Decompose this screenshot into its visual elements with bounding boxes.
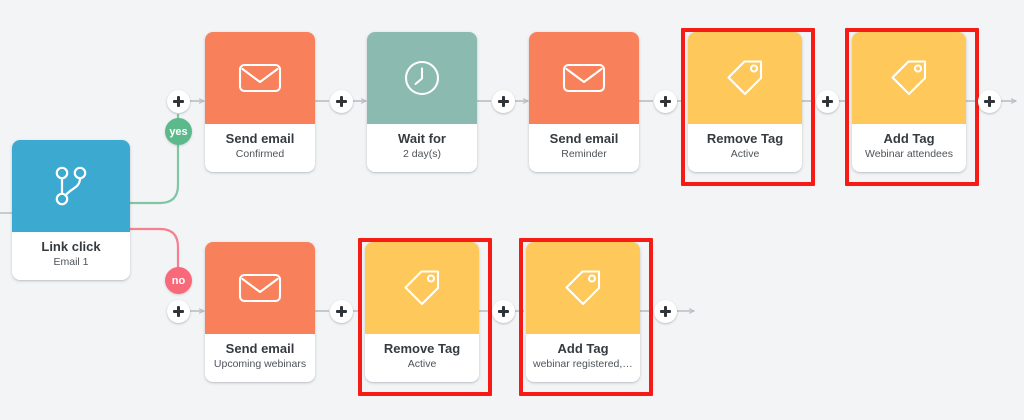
node-remove-tag-active-bottom[interactable]: Remove Tag Active <box>365 242 479 382</box>
workflow-canvas[interactable]: Link click Email 1 Send email Confirmed … <box>0 0 1024 420</box>
tag-icon <box>852 32 966 124</box>
node-subtitle: Confirmed <box>209 147 311 161</box>
node-title: Remove Tag <box>692 131 798 146</box>
node-label-group: Remove Tag Active <box>688 124 802 172</box>
add-step-top-end-button[interactable] <box>978 90 1001 113</box>
node-subtitle: Active <box>369 357 475 371</box>
node-subtitle: Email 1 <box>16 255 126 269</box>
node-add-tag-webinar-registered[interactable]: Add Tag webinar registered, not ... <box>526 242 640 382</box>
node-title: Add Tag <box>856 131 962 146</box>
node-send-email-upcoming-webinars[interactable]: Send email Upcoming webinars <box>205 242 315 382</box>
add-step-bottom-end-button[interactable] <box>654 300 677 323</box>
add-step-bottom-3-button[interactable] <box>492 300 515 323</box>
add-step-top-3-button[interactable] <box>492 90 515 113</box>
node-remove-tag-active-top[interactable]: Remove Tag Active <box>688 32 802 172</box>
node-subtitle: 2 day(s) <box>371 147 473 161</box>
envelope-icon <box>205 32 315 124</box>
add-step-bottom-2-button[interactable] <box>330 300 353 323</box>
node-title: Send email <box>533 131 635 146</box>
node-label-group: Send email Confirmed <box>205 124 315 172</box>
node-title: Send email <box>209 131 311 146</box>
clock-icon <box>367 32 477 124</box>
tag-icon <box>688 32 802 124</box>
node-label-group: Link click Email 1 <box>12 232 130 280</box>
branch-badge-no: no <box>165 267 192 294</box>
branch-badge-yes: yes <box>165 118 192 145</box>
envelope-icon <box>529 32 639 124</box>
add-step-bottom-1-button[interactable] <box>167 300 190 323</box>
node-subtitle: Reminder <box>533 147 635 161</box>
tag-icon <box>526 242 640 334</box>
add-step-top-2-button[interactable] <box>330 90 353 113</box>
node-label-group: Wait for 2 day(s) <box>367 124 477 172</box>
tag-icon <box>365 242 479 334</box>
branch-icon <box>12 140 130 232</box>
node-subtitle: webinar registered, not ... <box>530 357 636 371</box>
node-add-tag-webinar-attendees[interactable]: Add Tag Webinar attendees <box>852 32 966 172</box>
node-label-group: Remove Tag Active <box>365 334 479 382</box>
node-label-group: Send email Reminder <box>529 124 639 172</box>
node-title: Wait for <box>371 131 473 146</box>
node-title: Add Tag <box>530 341 636 356</box>
node-subtitle: Upcoming webinars <box>209 357 311 371</box>
envelope-icon <box>205 242 315 334</box>
add-step-top-1-button[interactable] <box>167 90 190 113</box>
node-send-email-confirmed[interactable]: Send email Confirmed <box>205 32 315 172</box>
add-step-top-5-button[interactable] <box>816 90 839 113</box>
node-label-group: Add Tag webinar registered, not ... <box>526 334 640 382</box>
node-title: Link click <box>16 239 126 254</box>
node-title: Remove Tag <box>369 341 475 356</box>
node-send-email-reminder[interactable]: Send email Reminder <box>529 32 639 172</box>
node-subtitle: Webinar attendees <box>856 147 962 161</box>
node-wait-for[interactable]: Wait for 2 day(s) <box>367 32 477 172</box>
node-label-group: Add Tag Webinar attendees <box>852 124 966 172</box>
node-label-group: Send email Upcoming webinars <box>205 334 315 382</box>
node-title: Send email <box>209 341 311 356</box>
node-subtitle: Active <box>692 147 798 161</box>
node-link-click[interactable]: Link click Email 1 <box>12 140 130 280</box>
add-step-top-4-button[interactable] <box>654 90 677 113</box>
